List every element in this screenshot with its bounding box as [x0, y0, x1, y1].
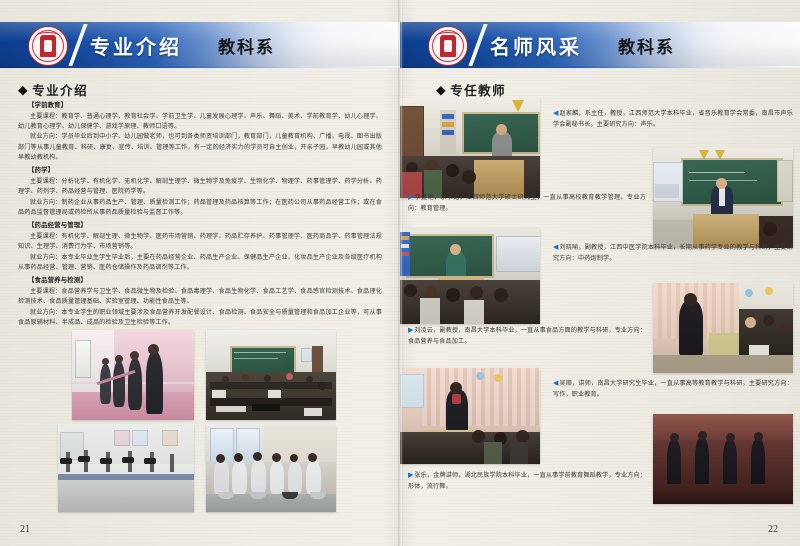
right-page-banner: 名师风采 教科系 — [400, 22, 800, 68]
page-number-left: 21 — [20, 524, 30, 535]
program-block: 【食品营养与检测】 主要课程：食品营养学与卫生学、食品微生物及检验、食品毒理学、… — [18, 275, 382, 328]
teacher-li-shengyan: 李盛艳，系书记，江西师范大学硕士研究生，一直从事高校教育教学管理。专业方向：教育… — [408, 192, 646, 214]
arrow-left-icon — [553, 243, 558, 251]
banner-underline — [400, 66, 800, 68]
right-page: 名师风采 教科系 ◆专任教师 — [400, 0, 800, 546]
diamond-bullet-icon: ◆ — [436, 82, 447, 97]
program-name: 【学前教育】 — [18, 100, 382, 111]
program-courses: 主要课程：有机化学、解剖生理、微生物学、医药市场营销、药理学、药品贮存养护、药事… — [18, 232, 382, 253]
liu-xiaoyu-lecture-photo — [400, 228, 540, 324]
li-shengyan-lecture-photo — [653, 148, 793, 248]
program-block: 【学前教育】 主要课程：教育学、普通心理学、教育社会学、学前卫生学、儿童发展心理… — [18, 100, 382, 164]
program-careers: 就业方向：本专业毕业生学生毕业后，主要在药品经营企业、药品生产企业、保健品生产企… — [18, 253, 382, 274]
food-lab-photo — [206, 424, 336, 512]
brochure-spread: 专业介绍 教科系 ◆专业介绍 【学前教育】 主要课程：教育学、普通心理学、教育社… — [0, 0, 800, 546]
program-courses: 主要课程：分析化学、有机化学、无机化学、解剖生理学、微生物学及免疫学、生物化学、… — [18, 177, 382, 198]
program-courses: 主要课程：教育学、普通心理学、教育社会学、学前卫生学、儿童发展心理学、声乐、舞蹈… — [18, 112, 382, 133]
teacher-zhang-le: 张乐，金牌讲师，湖北民族学院本科毕业，一直从事学前教育舞蹈教学，专业方向：形体，… — [408, 470, 646, 492]
program-careers: 就业方向：制药企业从事药品生产、管理、质量检测工作；药品管理及药品核算等工作；在… — [18, 198, 382, 219]
banner-underline — [0, 66, 400, 68]
arrow-left-icon — [553, 109, 558, 117]
zhao-jialin-lecture-photo — [400, 98, 540, 198]
left-page-banner: 专业介绍 教科系 — [0, 22, 400, 68]
program-block: 【药学】 主要课程：分析化学、有机化学、无机化学、解剖生理学、微生物学及免疫学、… — [18, 165, 382, 218]
chemistry-lab-photo — [58, 424, 194, 512]
banner-title: 名师风采 — [490, 31, 582, 60]
school-crest-icon — [28, 26, 68, 66]
arrow-right-icon — [408, 326, 413, 334]
majors-text-column: 【学前教育】 主要课程：教育学、普通心理学、教育社会学、学前卫生学、儿童发展心理… — [18, 100, 382, 330]
program-name: 【药学】 — [18, 165, 382, 176]
program-block: 【药品经营与管理】 主要课程：有机化学、解剖生理、微生物学、医药市场营销、药理学… — [18, 220, 382, 273]
teacher-liu-lingyun: 刘凌云，副教授，南昌大学本科毕业，一直从事食品方面的教学与科研，专业方向：食品营… — [408, 325, 646, 347]
page-number-right: 22 — [768, 524, 778, 535]
banner-department: 教科系 — [218, 33, 275, 58]
arrow-right-icon — [408, 471, 413, 479]
dance-practice-photo — [72, 330, 194, 420]
diamond-bullet-icon: ◆ — [18, 82, 29, 97]
school-crest-icon — [428, 26, 468, 66]
banner-title: 专业介绍 — [90, 31, 182, 60]
zhang-le-dance-photo — [653, 414, 793, 504]
teacher-liu-xiaoyu: 刘晓喻，副教授，江西中医学院本科毕业，长期从事药学专业的教学与科研，主要研究方向… — [553, 242, 793, 264]
teacher-wu-shun: 吴顺，讲师，南昌大学研究生毕业，一直从事高等教育教学与科研，主要研究方向：写作，… — [553, 378, 793, 400]
piano-classroom-photo — [206, 330, 336, 420]
program-careers: 就业方向：本专业学生的职业领域主要涉及食品营养开发配餐设计、食品检测、食品安全与… — [18, 308, 382, 329]
section-heading-teachers: ◆专任教师 — [436, 80, 506, 99]
page-gutter — [398, 0, 403, 546]
program-name: 【食品营养与检测】 — [18, 275, 382, 286]
liu-lingyun-lecture-photo — [653, 283, 793, 373]
arrow-left-icon — [553, 379, 558, 387]
program-name: 【药品经营与管理】 — [18, 220, 382, 231]
section-heading-majors: ◆专业介绍 — [18, 80, 88, 99]
program-careers: 就业方向：学员毕业后到中小学、幼儿园做老师，也可到各类师资培训部门，教育部门，儿… — [18, 132, 382, 163]
banner-department: 教科系 — [618, 33, 675, 58]
arrow-right-icon — [408, 193, 414, 201]
wu-shun-lecture-photo — [400, 368, 540, 464]
left-page: 专业介绍 教科系 ◆专业介绍 【学前教育】 主要课程：教育学、普通心理学、教育社… — [0, 0, 400, 546]
program-courses: 主要课程：食品营养学与卫生学、食品微生物及检验、食品毒理学、食品生物化学、食品工… — [18, 287, 382, 308]
teacher-zhao-jialin: 赵家麟，系主任，教授，江西师范大学本科毕业，省音乐教育学会常委，南昌市声乐学会副… — [553, 108, 793, 130]
